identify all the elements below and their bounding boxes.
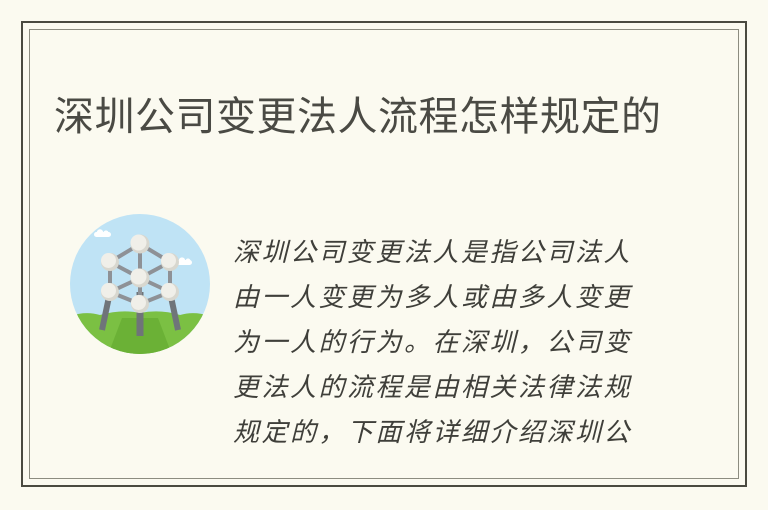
atomium-landmark-icon bbox=[70, 214, 210, 354]
article-thumbnail[interactable] bbox=[70, 214, 210, 354]
article-content-row: 深圳公司变更法人是指公司法人由一人变更为多人或由多人变更为一人的行为。在深圳，公… bbox=[23, 193, 745, 443]
page-title: 深圳公司变更法人流程怎样规定的 bbox=[54, 90, 694, 144]
article-card: 深圳公司变更法人流程怎样规定的 bbox=[21, 21, 747, 487]
article-body-text: 深圳公司变更法人是指公司法人由一人变更为多人或由多人变更为一人的行为。在深圳，公… bbox=[233, 231, 653, 456]
